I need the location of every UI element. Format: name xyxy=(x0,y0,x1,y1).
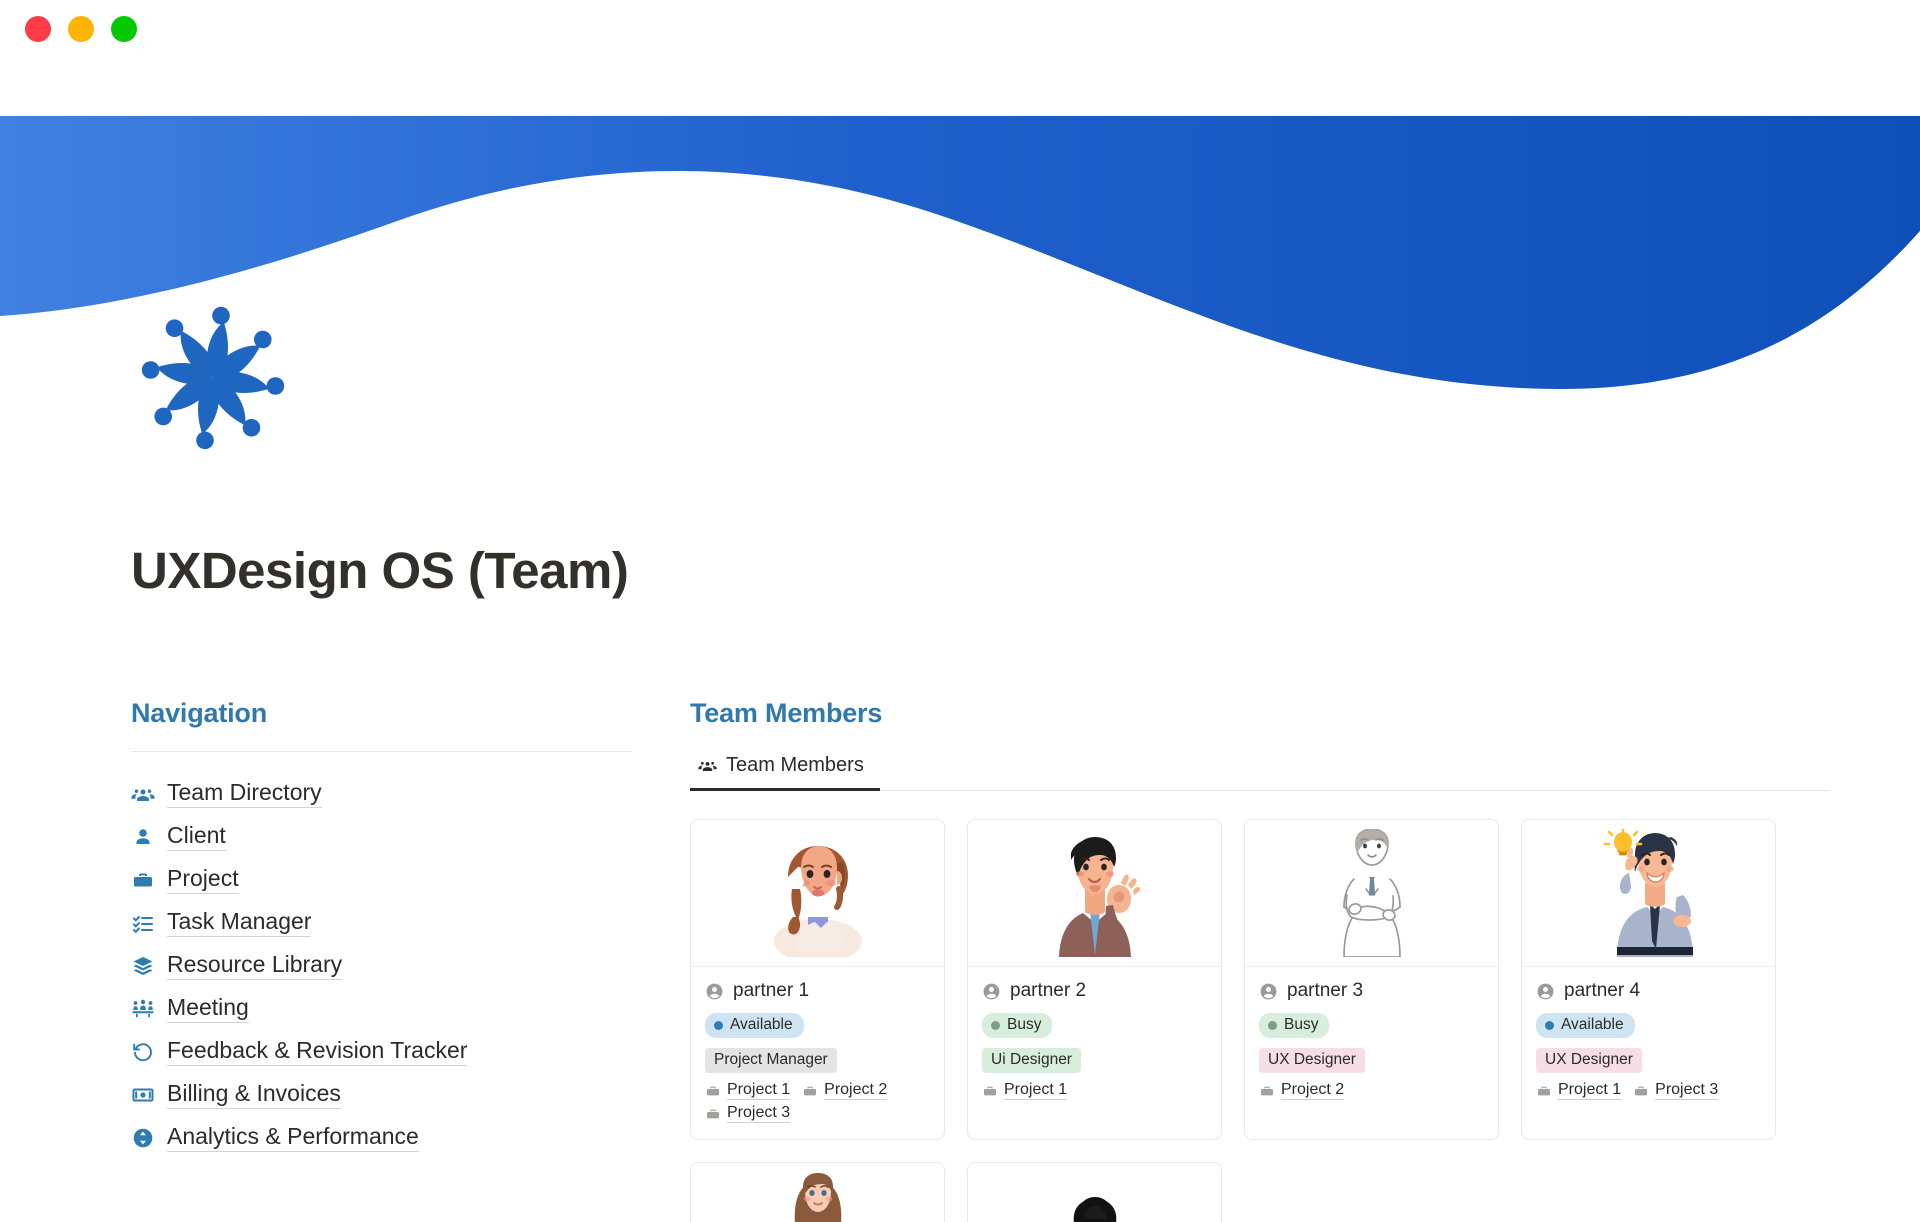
minimize-window-button[interactable] xyxy=(68,16,94,42)
sidebar-item-task-manager[interactable]: Task Manager xyxy=(131,901,631,944)
project-link[interactable]: Project 3 xyxy=(705,1104,790,1123)
status-dot-icon xyxy=(1268,1021,1277,1030)
card-body: partner 3 Busy UX Designer Project 2 xyxy=(1245,967,1498,1116)
briefcase-icon xyxy=(705,1106,721,1122)
status-label: Available xyxy=(730,1016,793,1034)
card-body: partner 1 Available Project Manager Proj… xyxy=(691,967,944,1139)
status-label: Busy xyxy=(1284,1016,1318,1034)
team-members-tabbar: Team Members xyxy=(690,754,1830,791)
woman-long-brown-hair-illustration-icon xyxy=(783,1171,853,1222)
project-link[interactable]: Project 1 xyxy=(705,1081,790,1100)
member-name: partner 1 xyxy=(733,980,809,1002)
sidebar-item-label: Meeting xyxy=(167,994,249,1023)
member-name: partner 4 xyxy=(1564,980,1640,1002)
team-member-card[interactable] xyxy=(690,1162,945,1222)
project-link[interactable]: Project 1 xyxy=(982,1081,1067,1100)
role-tag: Project Manager xyxy=(705,1048,837,1073)
briefcase-icon xyxy=(131,868,155,892)
man-lineart-arms-crossed-illustration-icon xyxy=(1316,829,1428,957)
app-logo xyxy=(133,298,293,458)
role-tag: UX Designer xyxy=(1259,1048,1365,1073)
status-label: Busy xyxy=(1007,1016,1041,1034)
project-link[interactable]: Project 1 xyxy=(1536,1081,1621,1100)
account-circle-icon xyxy=(705,982,724,1001)
status-dot-icon xyxy=(991,1021,1000,1030)
project-links: Project 2 xyxy=(1259,1081,1484,1100)
sidebar-item-label: Team Directory xyxy=(167,779,322,808)
banknote-icon xyxy=(131,1083,155,1107)
layers-icon xyxy=(131,954,155,978)
project-link[interactable]: Project 2 xyxy=(1259,1081,1344,1100)
project-label: Project 2 xyxy=(1281,1081,1344,1100)
tab-label: Team Members xyxy=(726,754,864,777)
briefcase-icon xyxy=(1259,1083,1275,1099)
member-name: partner 3 xyxy=(1287,980,1363,1002)
project-links: Project 1 xyxy=(982,1081,1207,1100)
sidebar-item-analytics-performance[interactable]: Analytics & Performance xyxy=(131,1116,631,1159)
team-members-heading: Team Members xyxy=(690,698,1830,729)
navigation-heading: Navigation xyxy=(131,698,631,729)
person-black-hair-illustration-icon xyxy=(1060,1171,1130,1222)
avatar xyxy=(691,820,944,967)
project-label: Project 1 xyxy=(1558,1081,1621,1100)
status-dot-icon xyxy=(1545,1021,1554,1030)
man-lightbulb-idea-illustration-icon xyxy=(1587,829,1711,957)
woman-auburn-hair-illustration-icon xyxy=(759,829,877,957)
team-members-card-grid: partner 1 Available Project Manager Proj… xyxy=(690,819,1830,1140)
briefcase-icon xyxy=(705,1083,721,1099)
role-tag: UX Designer xyxy=(1536,1048,1642,1073)
role-tag: Ui Designer xyxy=(982,1048,1081,1073)
account-circle-icon xyxy=(982,982,1001,1001)
briefcase-icon xyxy=(982,1083,998,1099)
status-badge: Busy xyxy=(1259,1013,1329,1038)
project-link[interactable]: Project 3 xyxy=(1633,1081,1718,1100)
sidebar-item-feedback-revision-tracker[interactable]: Feedback & Revision Tracker xyxy=(131,1030,631,1073)
navigation-divider xyxy=(131,751,631,752)
project-links: Project 1 Project 3 xyxy=(1536,1081,1761,1100)
team-member-card[interactable] xyxy=(967,1162,1222,1222)
status-badge: Available xyxy=(1536,1013,1635,1038)
team-member-card[interactable]: partner 4 Available UX Designer Project … xyxy=(1521,819,1776,1140)
card-body: partner 2 Busy Ui Designer Project 1 xyxy=(968,967,1221,1116)
group-icon xyxy=(698,756,717,775)
team-member-card[interactable]: partner 2 Busy Ui Designer Project 1 xyxy=(967,819,1222,1140)
analytics-icon xyxy=(131,1126,155,1150)
project-label: Project 3 xyxy=(1655,1081,1718,1100)
page-root: UXDesign OS (Team) Navigation Team Direc… xyxy=(0,58,1920,1200)
navigation-panel: Navigation Team Directory Client xyxy=(131,698,631,1159)
sidebar-item-label: Client xyxy=(167,822,226,851)
avatar xyxy=(1245,820,1498,967)
sidebar-item-label: Billing & Invoices xyxy=(167,1080,341,1109)
card-body: partner 4 Available UX Designer Project … xyxy=(1522,967,1775,1116)
sidebar-item-client[interactable]: Client xyxy=(131,815,631,858)
sidebar-item-project[interactable]: Project xyxy=(131,858,631,901)
team-member-card[interactable]: partner 3 Busy UX Designer Project 2 xyxy=(1244,819,1499,1140)
sidebar-item-label: Project xyxy=(167,865,239,894)
briefcase-icon xyxy=(1633,1083,1649,1099)
member-name: partner 2 xyxy=(1010,980,1086,1002)
project-links: Project 1 Project 2 Project 3 xyxy=(705,1081,930,1123)
account-circle-icon xyxy=(1259,982,1278,1001)
account-circle-icon xyxy=(1536,982,1555,1001)
avatar xyxy=(1522,820,1775,967)
sidebar-item-team-directory[interactable]: Team Directory xyxy=(131,772,631,815)
status-badge: Available xyxy=(705,1013,804,1038)
project-link[interactable]: Project 2 xyxy=(802,1081,887,1100)
navigation-list: Team Directory Client Project xyxy=(131,772,631,1159)
team-pinwheel-logo-icon xyxy=(133,298,293,458)
sidebar-item-label: Task Manager xyxy=(167,908,311,937)
project-label: Project 3 xyxy=(727,1104,790,1123)
member-name-row: partner 4 xyxy=(1536,980,1761,1002)
member-name-row: partner 2 xyxy=(982,980,1207,1002)
briefcase-icon xyxy=(802,1083,818,1099)
avatar xyxy=(968,820,1221,967)
member-name-row: partner 1 xyxy=(705,980,930,1002)
group-icon xyxy=(131,782,155,806)
team-member-card[interactable]: partner 1 Available Project Manager Proj… xyxy=(690,819,945,1140)
page-title: UXDesign OS (Team) xyxy=(131,541,628,600)
checklist-icon xyxy=(131,911,155,935)
sidebar-item-meeting[interactable]: Meeting xyxy=(131,987,631,1030)
project-label: Project 1 xyxy=(727,1081,790,1100)
sidebar-item-label: Analytics & Performance xyxy=(167,1123,419,1152)
tab-team-members[interactable]: Team Members xyxy=(690,754,880,791)
member-name-row: partner 3 xyxy=(1259,980,1484,1002)
status-label: Available xyxy=(1561,1016,1624,1034)
project-label: Project 2 xyxy=(824,1081,887,1100)
sidebar-item-label: Feedback & Revision Tracker xyxy=(167,1037,467,1066)
sidebar-item-label: Resource Library xyxy=(167,951,342,980)
status-badge: Busy xyxy=(982,1013,1052,1038)
meeting-room-icon xyxy=(131,997,155,1021)
team-members-panel: Team Members Team Members xyxy=(690,698,1830,1222)
sidebar-item-billing-invoices[interactable]: Billing & Invoices xyxy=(131,1073,631,1116)
briefcase-icon xyxy=(1536,1083,1552,1099)
project-label: Project 1 xyxy=(1004,1081,1067,1100)
maximize-window-button[interactable] xyxy=(111,16,137,42)
history-icon xyxy=(131,1040,155,1064)
sidebar-item-resource-library[interactable]: Resource Library xyxy=(131,944,631,987)
window-titlebar xyxy=(0,0,1920,58)
close-window-button[interactable] xyxy=(25,16,51,42)
team-members-card-grid-row2 xyxy=(690,1162,1830,1222)
person-icon xyxy=(131,825,155,849)
status-dot-icon xyxy=(714,1021,723,1030)
man-brown-suit-ok-gesture-illustration-icon xyxy=(1033,829,1157,957)
